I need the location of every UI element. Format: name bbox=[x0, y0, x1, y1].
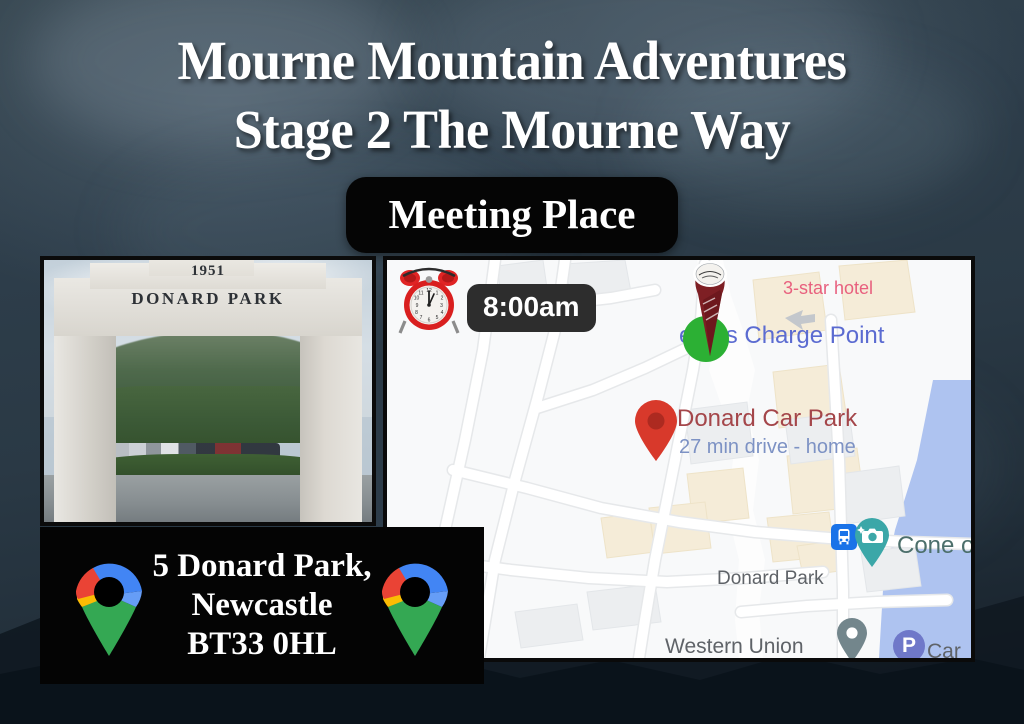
dark-red-flag-pin[interactable] bbox=[690, 260, 730, 356]
meeting-place-badge-wrapper: Meeting Place bbox=[0, 177, 1024, 253]
svg-text:11: 11 bbox=[418, 291, 423, 297]
photo-content: 1951 DONARD PARK bbox=[44, 260, 372, 522]
red-map-pin[interactable] bbox=[633, 400, 679, 462]
donard-park-photo: 1951 DONARD PARK bbox=[40, 256, 376, 526]
svg-text:9: 9 bbox=[416, 303, 419, 309]
svg-text:4: 4 bbox=[441, 310, 444, 316]
gray-map-pin[interactable] bbox=[835, 618, 869, 658]
google-maps-pin-icon bbox=[378, 555, 452, 657]
page-title-line-1: Mourne Mountain Adventures bbox=[26, 26, 999, 95]
page-title-line-2: Stage 2 The Mourne Way bbox=[26, 95, 999, 164]
svg-text:1: 1 bbox=[436, 291, 439, 297]
address-line-1: 5 Donard Park, bbox=[152, 547, 371, 586]
svg-text:7: 7 bbox=[420, 315, 423, 321]
svg-text:3: 3 bbox=[440, 303, 443, 309]
svg-text:6: 6 bbox=[428, 318, 431, 324]
meeting-place-badge: Meeting Place bbox=[346, 177, 677, 253]
alarm-clock-icon: 12 3 6 9 1 2 4 5 7 8 10 11 bbox=[397, 266, 461, 336]
address-block: 5 Donard Park, Newcastle BT33 0HL bbox=[40, 527, 484, 684]
photo-stone-archway: 1951 DONARD PARK bbox=[44, 260, 372, 522]
meeting-time-badge: 8:00am bbox=[467, 284, 596, 332]
poster-header: Mourne Mountain Adventures Stage 2 The M… bbox=[0, 26, 1024, 164]
camera-pin-icon[interactable] bbox=[853, 518, 891, 568]
archway-name-text: DONARD PARK bbox=[44, 289, 372, 309]
address-line-2: Newcastle bbox=[152, 586, 371, 625]
archway-year-text: 1951 bbox=[44, 263, 372, 280]
address-line-3: BT33 0HL bbox=[152, 625, 371, 664]
address-text: 5 Donard Park, Newcastle BT33 0HL bbox=[152, 547, 371, 664]
svg-text:2: 2 bbox=[441, 296, 444, 302]
poster-canvas: Mourne Mountain Adventures Stage 2 The M… bbox=[0, 0, 1024, 724]
svg-text:5: 5 bbox=[436, 315, 439, 321]
google-maps-pin-icon bbox=[72, 555, 146, 657]
svg-text:8: 8 bbox=[415, 310, 418, 316]
parking-p-icon[interactable]: P bbox=[893, 630, 925, 658]
